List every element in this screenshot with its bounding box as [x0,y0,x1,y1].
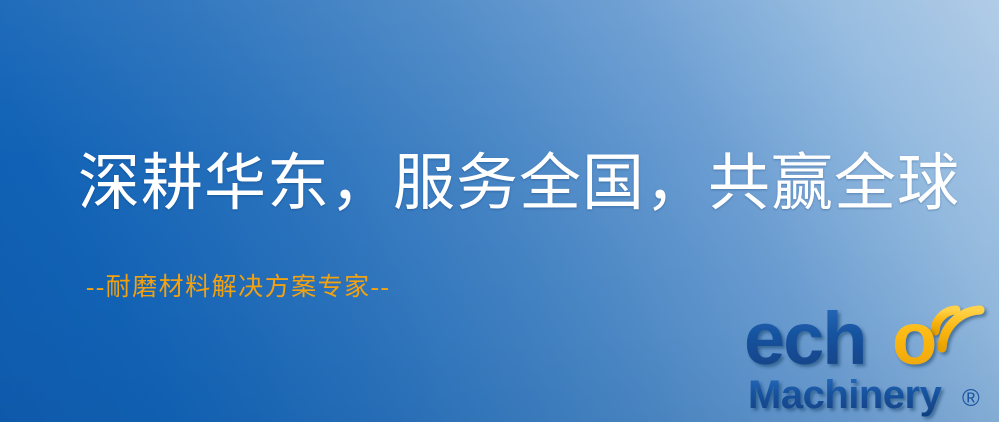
banner-headline: 深耕华东，服务全国，共赢全球 [78,152,960,217]
banner-subtitle: --耐磨材料解决方案专家-- [86,267,390,303]
company-logo[interactable]: ech o Machinery ® [744,296,996,420]
hero-banner: 深耕华东，服务全国，共赢全球 --耐磨材料解决方案专家-- [0,0,999,422]
echo-signal-waves-icon [935,310,980,348]
logo-tagline: Machinery [748,373,943,417]
registered-trademark-icon: ® [962,385,980,412]
logo-brand-primary: ech [744,297,866,380]
logo-brand-accent: o [892,297,937,380]
